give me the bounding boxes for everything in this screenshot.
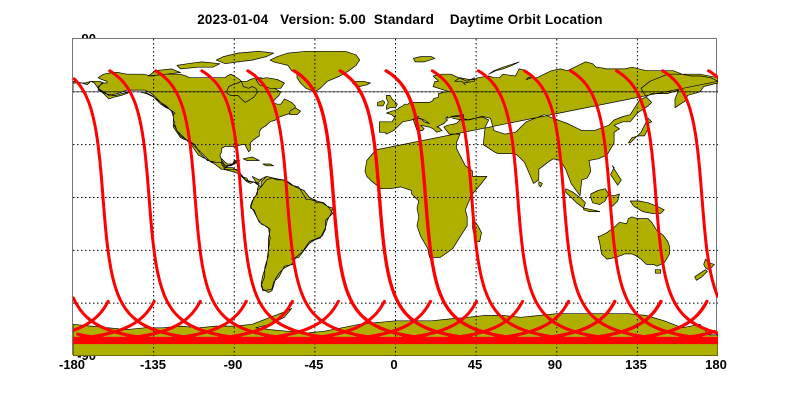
landmass-22 xyxy=(216,51,273,63)
xtick-label-135: 135 xyxy=(601,357,671,372)
landmass-12 xyxy=(566,189,586,208)
landmass-8 xyxy=(378,101,385,106)
xtick-label-180: 180 xyxy=(681,357,751,372)
landmass-2 xyxy=(655,270,660,274)
landmass-15 xyxy=(584,208,600,212)
xtick-label-0: 0 xyxy=(359,357,429,372)
landmass-13 xyxy=(630,201,664,213)
landmass-21 xyxy=(413,57,435,62)
xtick-label-90: 90 xyxy=(520,357,590,372)
landmass-16 xyxy=(611,166,622,185)
landmass-0 xyxy=(73,62,718,293)
landmass-18 xyxy=(263,164,274,166)
landmass-19 xyxy=(539,182,543,187)
xtick-label-m180: -180 xyxy=(37,357,107,372)
xtick-label-45: 45 xyxy=(440,357,510,372)
orbit-track-descending-4-0 xyxy=(524,71,713,341)
xtick-label-m135: -135 xyxy=(118,357,188,372)
landmass-4 xyxy=(695,270,708,281)
map-canvas xyxy=(73,39,718,356)
xtick-label-m90: -90 xyxy=(198,357,268,372)
xtick-label-m45: -45 xyxy=(279,357,349,372)
landmass-17 xyxy=(243,157,259,161)
landmass-23 xyxy=(177,62,220,69)
orbit-location-figure: 2023-01-04 Version: 5.00 Standard Daytim… xyxy=(0,0,800,400)
landmass-11 xyxy=(591,189,609,205)
orbit-track-descending-7-0 xyxy=(663,71,718,296)
page-title: 2023-01-04 Version: 5.00 Standard Daytim… xyxy=(0,12,800,27)
map-plot-area xyxy=(72,38,717,355)
landmass-20 xyxy=(489,62,519,74)
